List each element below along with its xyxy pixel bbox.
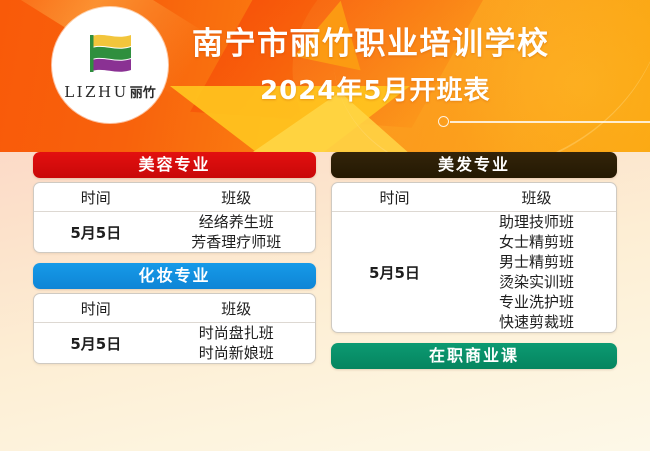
schedule-table-beauty: 时间 班级 5月5日 经络养生班 芳香理疗师班 bbox=[34, 183, 315, 252]
class-item: 女士精剪班 bbox=[457, 232, 616, 252]
schedule-table-makeup: 时间 班级 5月5日 时尚盘扎班 时尚新娘班 bbox=[34, 294, 315, 363]
cell-time: 5月5日 bbox=[332, 212, 457, 333]
cell-classes: 经络养生班 芳香理疗师班 bbox=[158, 212, 315, 253]
table-row: 5月5日 助理技师班 女士精剪班 男士精剪班 烫染实训班 专业洗护班 快速剪裁班 bbox=[332, 212, 616, 333]
section-hairdressing: 美发专业 时间 班级 5月5日 bbox=[331, 152, 617, 333]
logo-hanzi-text: 丽竹 bbox=[130, 82, 156, 101]
section-business: 在职商业课 bbox=[331, 343, 617, 369]
class-item: 时尚新娘班 bbox=[158, 343, 315, 363]
class-item: 助理技师班 bbox=[457, 212, 616, 232]
rule-line bbox=[450, 121, 650, 123]
schedule-table-hairdressing: 时间 班级 5月5日 助理技师班 女士精剪班 男士精剪班 bbox=[332, 183, 616, 332]
class-item: 时尚盘扎班 bbox=[158, 323, 315, 343]
page-title: 南宁市丽竹职业培训学校 bbox=[192, 18, 550, 63]
column-header-classes: 班级 bbox=[158, 294, 315, 323]
class-item: 烫染实训班 bbox=[457, 272, 616, 292]
column-header-time: 时间 bbox=[332, 183, 457, 212]
class-item: 专业洗护班 bbox=[457, 292, 616, 312]
cell-classes: 助理技师班 女士精剪班 男士精剪班 烫染实训班 专业洗护班 快速剪裁班 bbox=[457, 212, 616, 333]
section-beauty: 美容专业 时间 班级 5月5日 bbox=[33, 152, 316, 253]
page-subtitle: 2024年5月开班表 bbox=[260, 70, 490, 107]
section-header-hairdressing[interactable]: 美发专业 bbox=[331, 152, 617, 178]
cell-classes: 时尚盘扎班 时尚新娘班 bbox=[158, 323, 315, 364]
column-header-classes: 班级 bbox=[158, 183, 315, 212]
cell-time: 5月5日 bbox=[34, 212, 158, 253]
class-item: 男士精剪班 bbox=[457, 252, 616, 272]
column-header-classes: 班级 bbox=[457, 183, 616, 212]
section-header-makeup[interactable]: 化妆专业 bbox=[33, 263, 316, 289]
table-header-row: 时间 班级 bbox=[332, 183, 616, 212]
section-header-business[interactable]: 在职商业课 bbox=[331, 343, 617, 369]
section-card-beauty: 时间 班级 5月5日 经络养生班 芳香理疗师班 bbox=[33, 182, 316, 253]
right-column: 美发专业 时间 班级 5月5日 bbox=[331, 152, 617, 379]
class-item: 经络养生班 bbox=[158, 212, 315, 232]
section-header-beauty[interactable]: 美容专业 bbox=[33, 152, 316, 178]
lizhu-banner-icon bbox=[85, 32, 135, 76]
logo-latin-text: LIZHU bbox=[64, 83, 129, 101]
table-header-row: 时间 班级 bbox=[34, 294, 315, 323]
table-header-row: 时间 班级 bbox=[34, 183, 315, 212]
schedule-board: 美容专业 时间 班级 5月5日 bbox=[0, 152, 650, 451]
logo-wordmark: LIZHU 丽竹 bbox=[64, 82, 156, 101]
header-banner: LIZHU 丽竹 南宁市丽竹职业培训学校 2024年5月开班表 bbox=[0, 0, 650, 152]
header-decorative-rule bbox=[438, 115, 650, 129]
school-logo: LIZHU 丽竹 bbox=[52, 7, 168, 123]
poster-root: LIZHU 丽竹 南宁市丽竹职业培训学校 2024年5月开班表 美容专业 bbox=[0, 0, 650, 451]
table-row: 5月5日 时尚盘扎班 时尚新娘班 bbox=[34, 323, 315, 364]
section-makeup: 化妆专业 时间 班级 5月5日 bbox=[33, 263, 316, 364]
table-row: 5月5日 经络养生班 芳香理疗师班 bbox=[34, 212, 315, 253]
column-header-time: 时间 bbox=[34, 183, 158, 212]
class-item: 芳香理疗师班 bbox=[158, 232, 315, 252]
class-item: 快速剪裁班 bbox=[457, 312, 616, 332]
left-column: 美容专业 时间 班级 5月5日 bbox=[33, 152, 316, 374]
circle-icon bbox=[438, 116, 449, 127]
section-card-hairdressing: 时间 班级 5月5日 助理技师班 女士精剪班 男士精剪班 bbox=[331, 182, 617, 333]
cell-time: 5月5日 bbox=[34, 323, 158, 364]
column-header-time: 时间 bbox=[34, 294, 158, 323]
section-card-makeup: 时间 班级 5月5日 时尚盘扎班 时尚新娘班 bbox=[33, 293, 316, 364]
